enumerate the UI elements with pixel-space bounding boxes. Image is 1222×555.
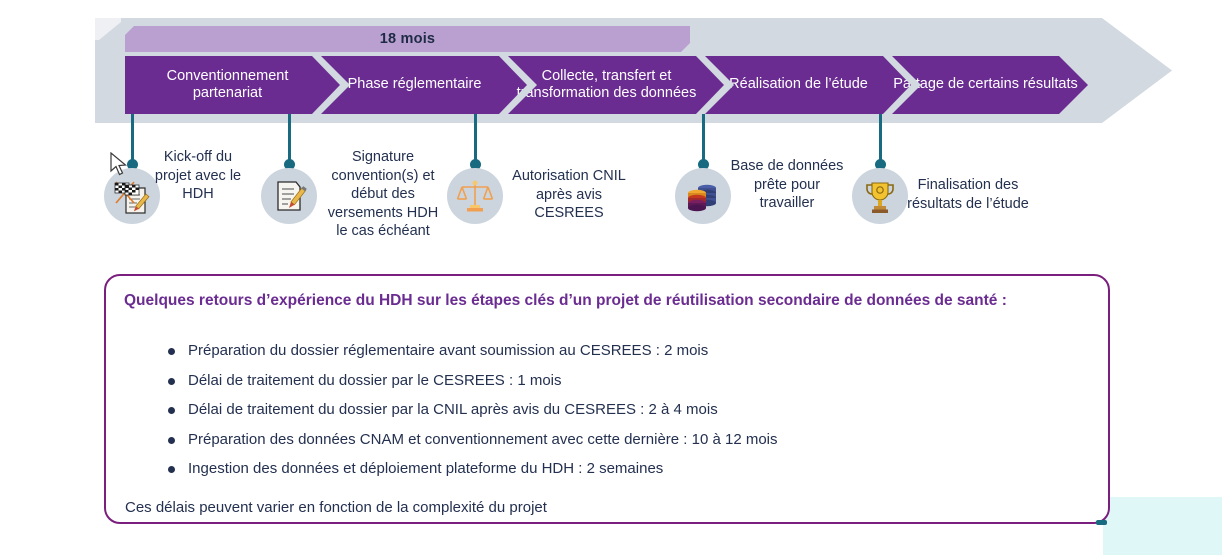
milestone-connector-4: [702, 114, 705, 164]
phase-step-1-label: Conventionnement partenariat: [125, 68, 330, 103]
list-item: Délai de traitement du dossier par la CN…: [124, 401, 1084, 419]
panel-title: Quelques retours d’expérience du HDH sur…: [124, 290, 1092, 312]
list-item: Préparation des données CNAM et conventi…: [124, 431, 1084, 449]
duration-banner-label: 18 mois: [380, 31, 435, 47]
milestone-circle-4[interactable]: [675, 168, 731, 224]
milestone-circle-5[interactable]: [852, 168, 908, 224]
milestone-label-4: Base de données prête pour travailler: [728, 157, 846, 213]
cyan-edge-sliver: [1103, 497, 1222, 555]
milestone-connector-3: [474, 114, 477, 164]
list-item: Préparation du dossier réglementaire ava…: [124, 342, 1084, 360]
milestone-circle-2[interactable]: [261, 168, 317, 224]
trophy-icon: [861, 177, 899, 215]
milestone-connector-1: [131, 114, 134, 164]
panel-bottom-tick: [1096, 520, 1107, 525]
phase-step-1[interactable]: Conventionnement partenariat: [125, 56, 330, 114]
signed-document-pencil-icon: [269, 176, 309, 216]
database-stack-icon: [684, 177, 722, 215]
phase-strip: Conventionnement partenariat Phase régle…: [125, 56, 1088, 114]
milestone-circle-3[interactable]: [447, 168, 503, 224]
experience-feedback-panel: Quelques retours d’expérience du HDH sur…: [104, 274, 1110, 524]
duration-banner: 18 mois: [125, 26, 690, 52]
phase-step-4-label: Réalisation de l’étude: [723, 76, 874, 94]
scales-of-justice-icon: [456, 177, 494, 215]
panel-bullet-list: Préparation du dossier réglementaire ava…: [124, 342, 1084, 490]
milestone-label-2: Signature convention(s) et début des ver…: [322, 148, 444, 241]
phase-step-2-label: Phase réglementaire: [342, 76, 488, 94]
milestone-label-1: Kick-off du projet avec le HDH: [144, 148, 252, 204]
milestone-connector-2: [288, 114, 291, 164]
panel-footer-note: Ces délais peuvent varier en fonction de…: [125, 499, 547, 517]
mouse-pointer-icon: [110, 152, 130, 178]
list-item: Ingestion des données et déploiement pla…: [124, 460, 1084, 478]
project-timeline: 18 mois Conventionnement partenariat Pha…: [0, 0, 1222, 275]
milestone-label-5: Finalisation des résultats de l’étude: [906, 176, 1030, 213]
milestone-connector-5: [879, 114, 882, 164]
milestone-label-3: Autorisation CNIL après avis CESREES: [507, 167, 631, 223]
list-item: Délai de traitement du dossier par le CE…: [124, 372, 1084, 390]
